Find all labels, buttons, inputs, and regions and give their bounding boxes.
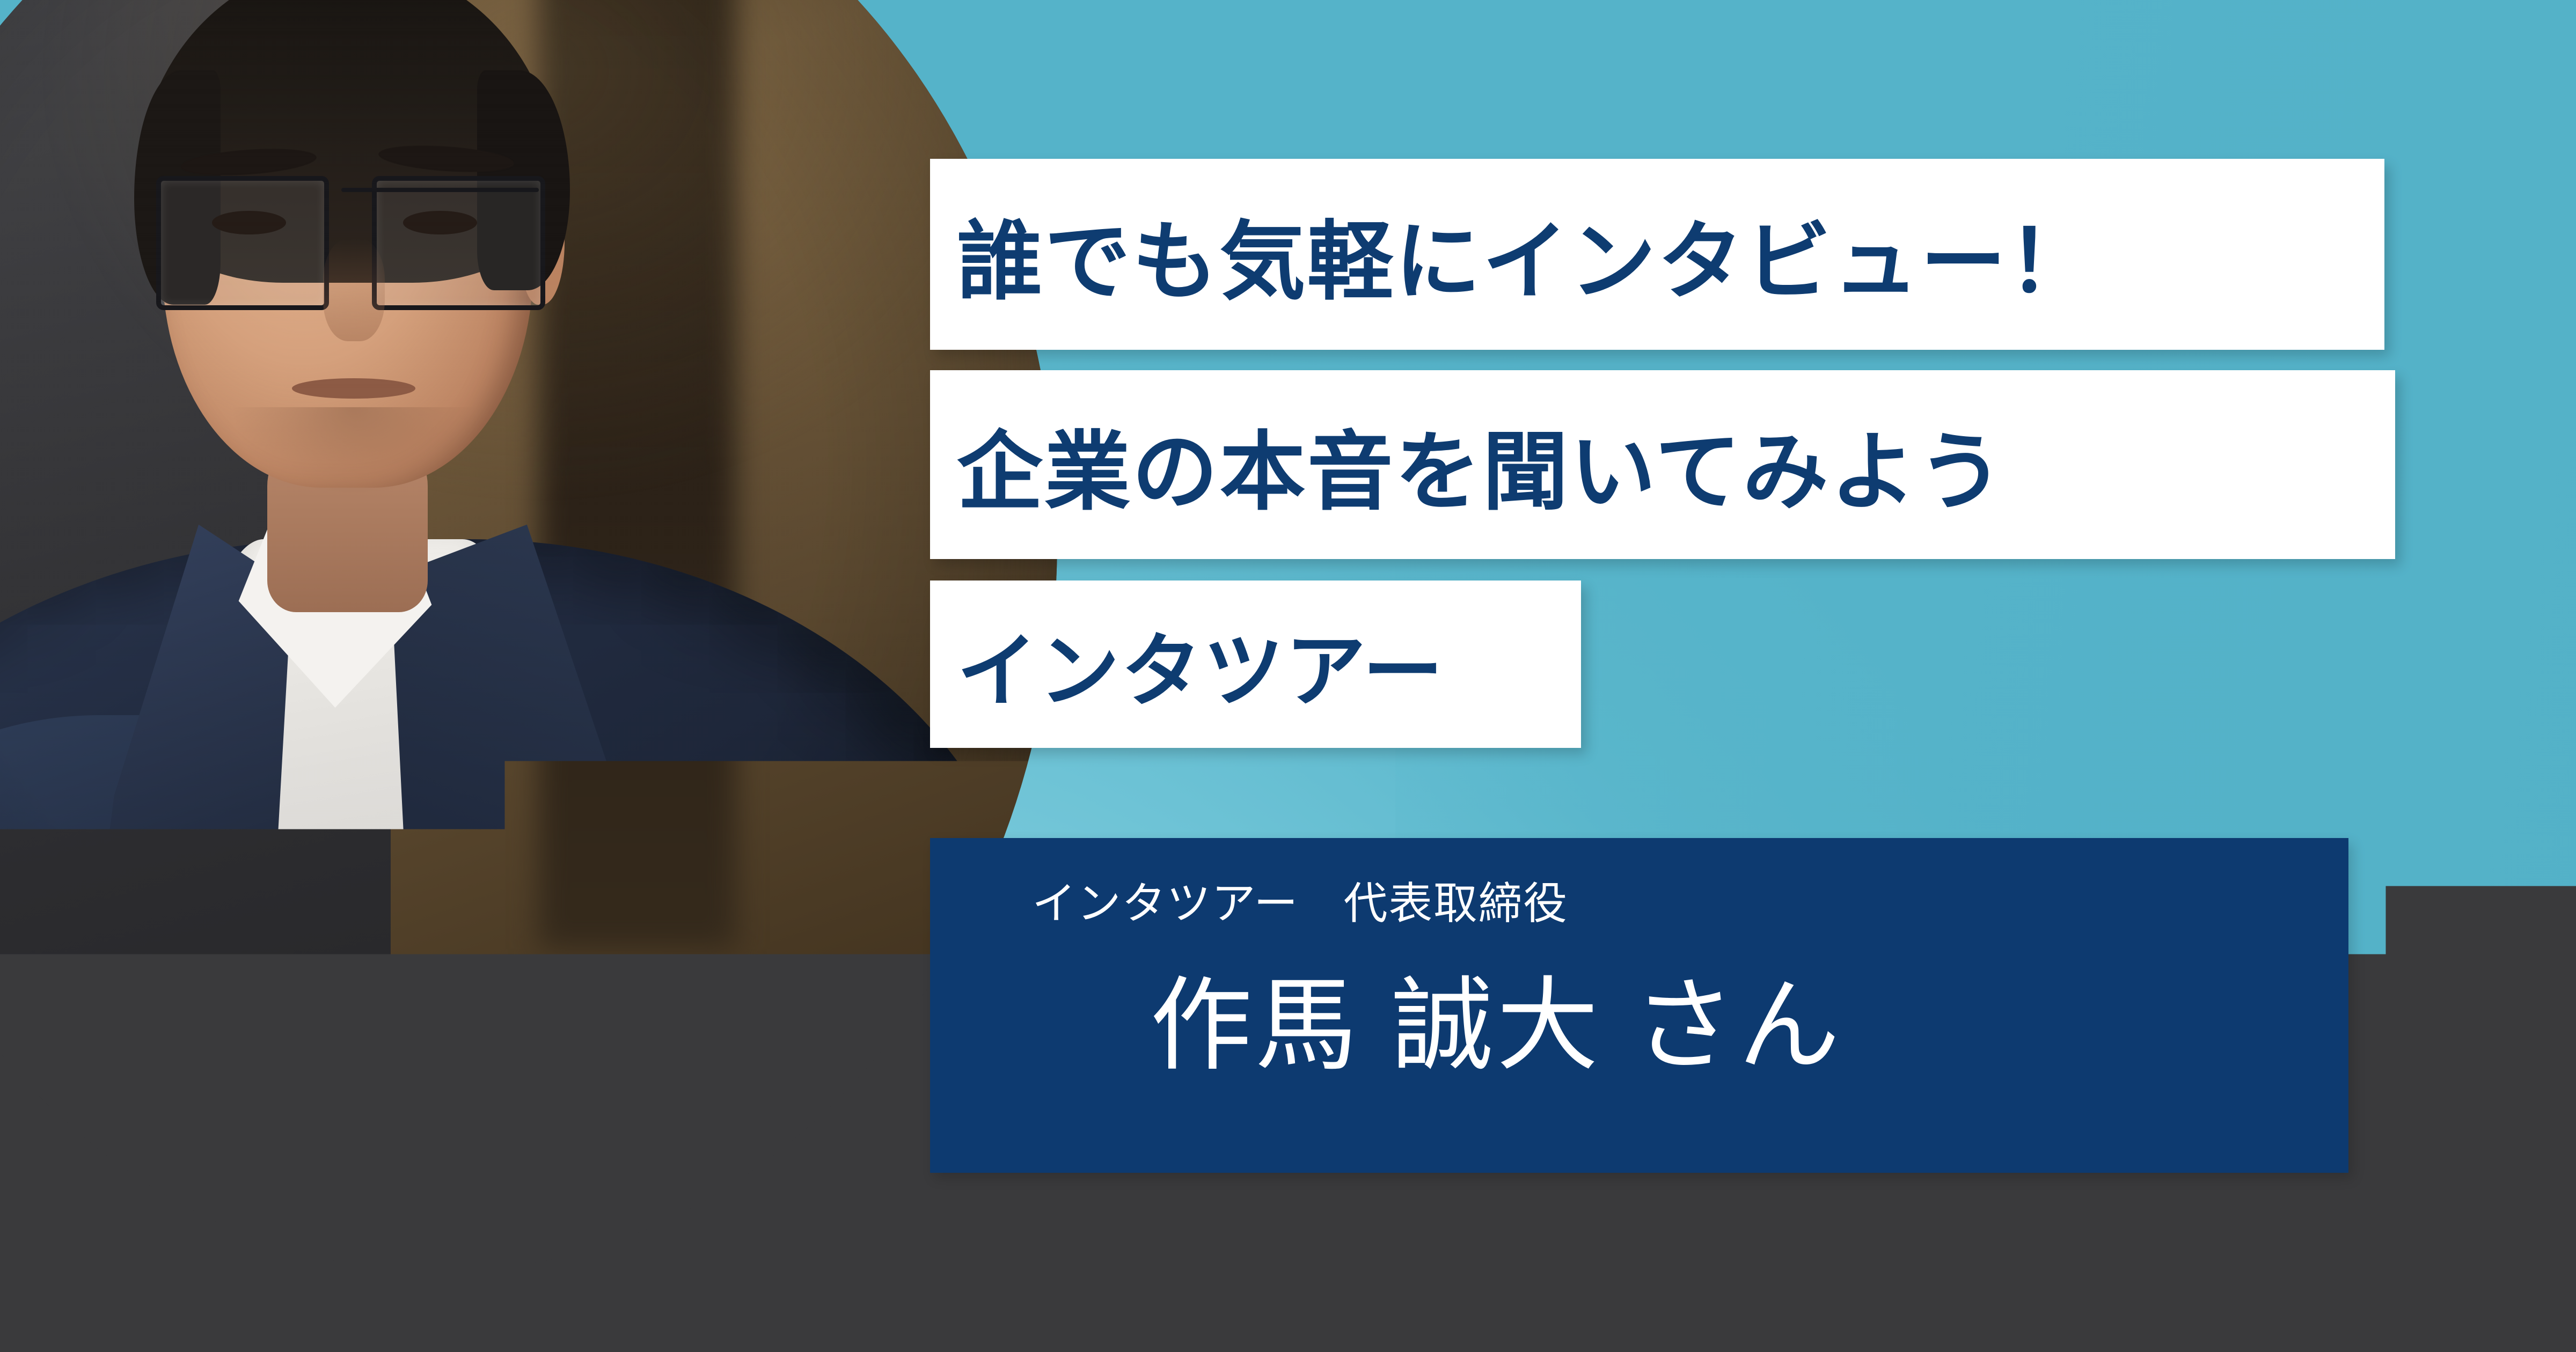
headline-line-1-text: 誰でも気軽にインタビュー！ — [957, 192, 2096, 317]
speaker-role: インタツアー 代表取締役 — [1032, 868, 1568, 931]
headline-line-3: インタツアー — [930, 581, 1581, 748]
photo-vignette — [0, 0, 1057, 1272]
headline-line-2-text: 企業の本音を聞いてみよう — [957, 402, 2006, 527]
headline-line-1: 誰でも気軽にインタビュー！ — [930, 159, 2384, 350]
speaker-photo-circle — [0, 0, 1057, 1272]
speaker-name: 作馬 誠大 さん — [1150, 943, 1843, 1090]
speaker-photo — [0, 0, 1057, 1272]
interview-banner: 誰でも気軽にインタビュー！ 企業の本音を聞いてみよう インタツアー インタツアー… — [0, 0, 2576, 1352]
headline-line-3-text: インタツアー — [957, 606, 1445, 723]
speaker-name-plate: インタツアー 代表取締役 作馬 誠大 さん — [930, 838, 2348, 1173]
headline-line-2: 企業の本音を聞いてみよう — [930, 370, 2395, 559]
